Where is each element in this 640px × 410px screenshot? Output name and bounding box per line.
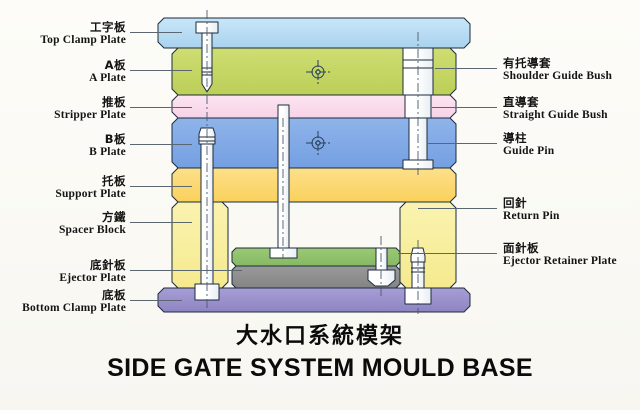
leader-spacer-block — [130, 222, 192, 223]
ejector-plate-screw-head — [368, 270, 395, 286]
label-cn: 面針板 — [503, 243, 617, 255]
spacer-block-left — [172, 202, 228, 288]
leader-return-pin — [418, 208, 497, 209]
label-en: Stripper Plate — [54, 110, 126, 122]
label-spacer-block: 方鐵 Spacer Block — [59, 212, 126, 237]
spacer-block-right — [400, 202, 456, 288]
ejector-pin-shank — [278, 105, 289, 248]
label-ejector-plate: 底針板 Ejector Plate — [59, 260, 126, 285]
leader-bottom-clamp-plate — [130, 300, 182, 301]
label-shoulder-guide-bush: 有托導套 Shoulder Guide Bush — [503, 58, 612, 83]
label-en: Ejector Retainer Plate — [503, 256, 617, 268]
plate-ejector-retainer — [232, 248, 400, 266]
label-cn: 回針 — [503, 198, 560, 210]
leader-stripper-plate — [130, 107, 192, 108]
leader-support-plate — [130, 186, 192, 187]
label-a-plate: A板 A Plate — [89, 60, 126, 85]
label-en: Return Pin — [503, 211, 560, 223]
label-cn: 推板 — [54, 97, 126, 109]
label-en: A Plate — [89, 73, 126, 85]
label-en: Shoulder Guide Bush — [503, 71, 612, 83]
label-en: Ejector Plate — [59, 273, 126, 285]
label-straight-guide-bush: 直導套 Straight Guide Bush — [503, 97, 608, 122]
leader-a-plate — [130, 70, 192, 71]
leader-guide-pin — [428, 143, 497, 144]
label-cn: 方鐵 — [59, 212, 126, 224]
label-en: Spacer Block — [59, 225, 126, 237]
ejector-plate-screw-shank — [376, 248, 387, 270]
label-en: Straight Guide Bush — [503, 110, 608, 122]
leader-ejector-retainer-plate — [398, 253, 497, 254]
label-cn: 直導套 — [503, 97, 608, 109]
leader-top-clamp-plate — [130, 32, 182, 33]
leader-b-plate — [130, 144, 192, 145]
label-stripper-plate: 推板 Stripper Plate — [54, 97, 126, 122]
title-english: SIDE GATE SYSTEM MOULD BASE — [0, 354, 640, 383]
leader-shoulder-guide-bush — [435, 68, 497, 69]
leader-ejector-plate — [130, 270, 242, 271]
label-cn: 導柱 — [503, 133, 554, 145]
diagram-canvas: 工字板 Top Clamp Plate A板 A Plate 推板 Stripp… — [0, 0, 640, 410]
label-cn: B板 — [89, 134, 126, 146]
label-en: B Plate — [89, 147, 126, 159]
leader-straight-guide-bush — [432, 107, 497, 108]
label-en: Support Plate — [55, 189, 126, 201]
label-cn: 工字板 — [40, 22, 126, 34]
label-ejector-retainer-plate: 面針板 Ejector Retainer Plate — [503, 243, 617, 268]
label-support-plate: 托板 Support Plate — [55, 176, 126, 201]
label-b-plate: B板 B Plate — [89, 134, 126, 159]
label-cn: 底針板 — [59, 260, 126, 272]
label-cn: A板 — [89, 60, 126, 72]
label-en: Guide Pin — [503, 146, 554, 158]
diagram-title: 大水口系統模架 SIDE GATE SYSTEM MOULD BASE — [0, 318, 640, 383]
label-top-clamp-plate: 工字板 Top Clamp Plate — [40, 22, 126, 47]
label-return-pin: 回針 Return Pin — [503, 198, 560, 223]
label-guide-pin: 導柱 Guide Pin — [503, 133, 554, 158]
plate-support — [172, 168, 456, 202]
ejector-pin-head — [270, 248, 297, 258]
title-chinese: 大水口系統模架 — [0, 318, 640, 350]
label-en: Bottom Clamp Plate — [22, 303, 126, 315]
label-cn: 底板 — [22, 290, 126, 302]
label-bottom-clamp-plate: 底板 Bottom Clamp Plate — [22, 290, 126, 315]
label-en: Top Clamp Plate — [40, 35, 126, 47]
label-cn: 托板 — [55, 176, 126, 188]
label-cn: 有托導套 — [503, 58, 612, 70]
